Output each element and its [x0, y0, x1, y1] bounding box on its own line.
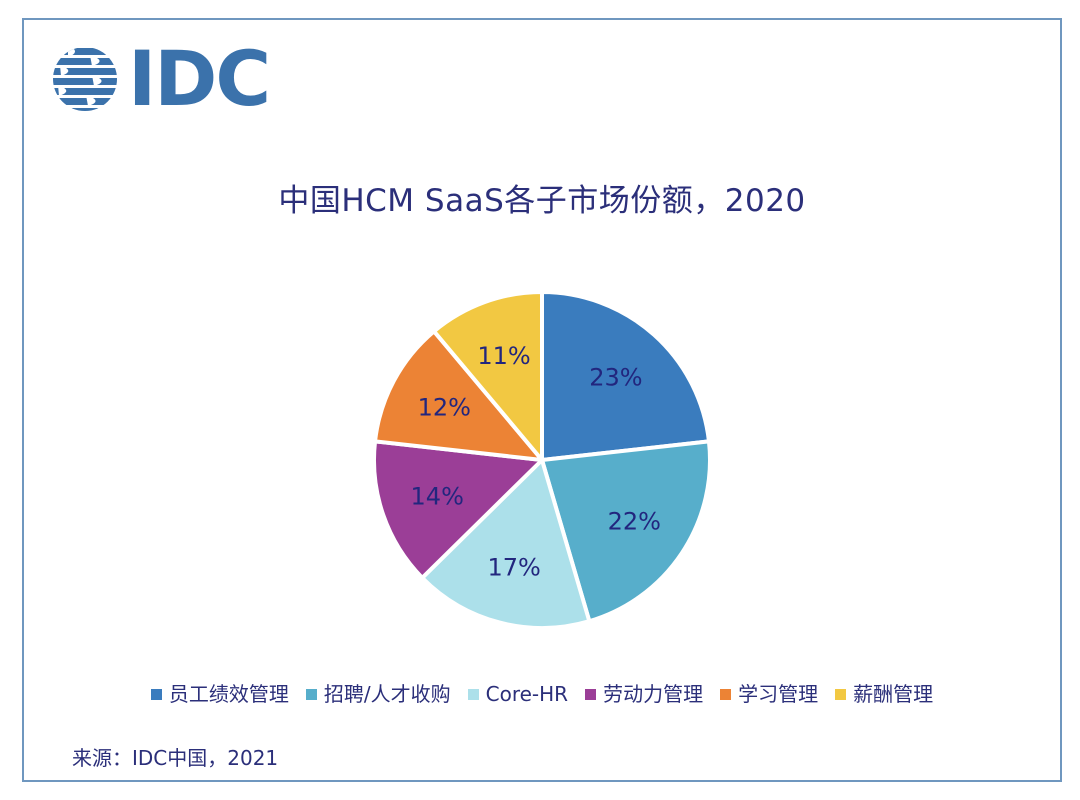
legend-item[interactable]: 薪酬管理	[835, 683, 933, 705]
legend-item[interactable]: 员工绩效管理	[151, 683, 289, 705]
idc-logo: IDC	[50, 43, 269, 115]
idc-globe-icon	[50, 43, 120, 115]
pie-slice-label: 12%	[418, 394, 471, 422]
legend-swatch-icon	[151, 689, 162, 700]
legend-item-label: 学习管理	[738, 683, 818, 705]
page-title: 中国HCM SaaS各子市场份额，2020	[24, 175, 1060, 220]
legend-item-label: 员工绩效管理	[169, 683, 289, 705]
pie-slice-label: 23%	[589, 363, 642, 391]
chart-legend: 员工绩效管理招聘/人才收购Core-HR劳动力管理学习管理薪酬管理	[24, 683, 1060, 705]
legend-item[interactable]: 学习管理	[720, 683, 818, 705]
pie-slice-group	[374, 292, 710, 628]
legend-item-label: 劳动力管理	[603, 683, 703, 705]
pie-slice-label: 11%	[477, 342, 530, 370]
pie-slice-label: 17%	[487, 553, 540, 581]
pie-slice-label: 22%	[608, 507, 661, 535]
pie-chart: 23%22%17%14%12%11%	[24, 275, 1060, 655]
legend-swatch-icon	[585, 689, 596, 700]
source-note: 来源：IDC中国，2021	[72, 742, 278, 771]
legend-item-label: Core-HR	[486, 683, 568, 705]
legend-item[interactable]: Core-HR	[468, 683, 568, 705]
legend-item[interactable]: 招聘/人才收购	[306, 683, 451, 705]
pie-slice-label: 14%	[411, 482, 464, 510]
legend-swatch-icon	[835, 689, 846, 700]
legend-swatch-icon	[306, 689, 317, 700]
slide-frame: IDC 中国HCM SaaS各子市场份额，2020 23%22%17%14%12…	[22, 18, 1062, 782]
legend-item[interactable]: 劳动力管理	[585, 683, 703, 705]
legend-swatch-icon	[720, 689, 731, 700]
legend-item-label: 薪酬管理	[853, 683, 933, 705]
legend-item-label: 招聘/人才收购	[324, 683, 451, 705]
legend-swatch-icon	[468, 689, 479, 700]
idc-wordmark: IDC	[128, 43, 269, 115]
